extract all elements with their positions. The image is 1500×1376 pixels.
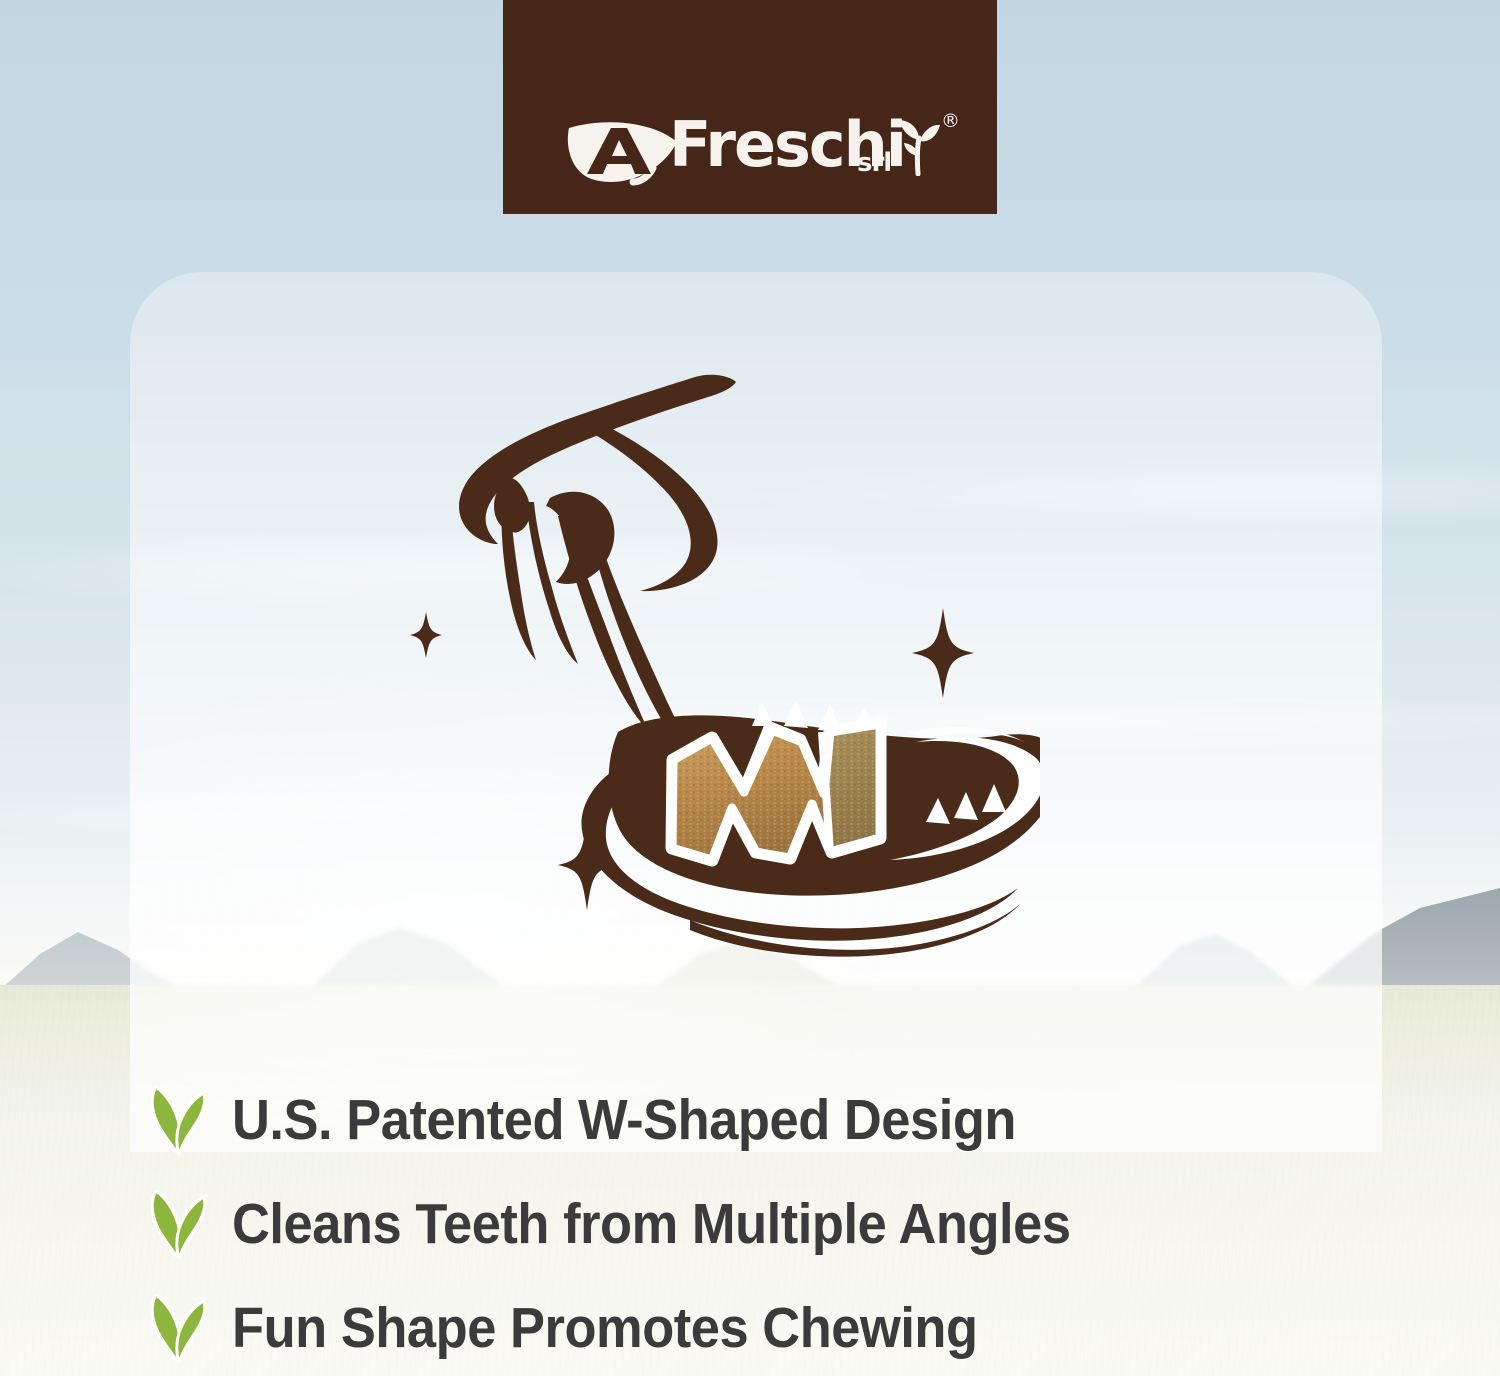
- registered-trademark-symbol: ®: [941, 112, 960, 131]
- feature-list: U.S. Patented W-Shaped Design Cleans Tee…: [148, 1068, 1418, 1376]
- lower-jaw-shape: [581, 700, 1040, 957]
- leaf-bullet-icon: [148, 1084, 208, 1156]
- list-item: U.S. Patented W-Shaped Design: [148, 1068, 1418, 1172]
- brand-suffix: srl: [857, 150, 891, 176]
- dog-open-mouth-with-w-chew-illustration: [360, 360, 1040, 960]
- brand-header-bar: Freschi srl ®: [503, 0, 997, 214]
- sparkle-small-left: [410, 612, 442, 658]
- sparkle-large-right: [912, 608, 974, 698]
- feature-label: U.S. Patented W-Shaped Design: [232, 1092, 1016, 1149]
- upper-jaw-linework: [459, 375, 736, 772]
- feature-label: Fun Shape Promotes Chewing: [232, 1300, 978, 1357]
- leaf-bullet-icon: [148, 1292, 208, 1364]
- w-shaped-dental-chew: [672, 724, 880, 860]
- leaf-bullet-icon: [148, 1188, 208, 1260]
- plant-sprout-icon: [895, 116, 941, 176]
- feature-label: Cleans Teeth from Multiple Angles: [232, 1196, 1071, 1253]
- sparkle-medium-bottom: [558, 820, 616, 910]
- list-item: Cleans Teeth from Multiple Angles: [148, 1172, 1418, 1276]
- product-feature-banner: Freschi srl ® U.S. Patented W-Shaped Des…: [0, 0, 1500, 1376]
- brand-logo-lockup: Freschi srl ®: [565, 108, 935, 192]
- list-item: Fun Shape Promotes Chewing: [148, 1276, 1418, 1376]
